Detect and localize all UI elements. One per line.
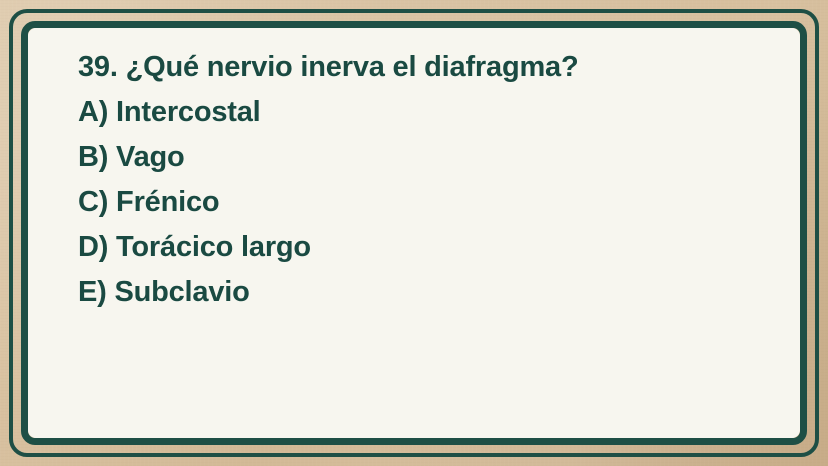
answer-option-a[interactable]: A) Intercostal (78, 90, 770, 135)
quiz-slide: 39. ¿Qué nervio inerva el diafragma? A) … (0, 0, 828, 466)
answer-option-d[interactable]: D) Torácico largo (78, 225, 770, 270)
answer-option-e[interactable]: E) Subclavio (78, 270, 770, 315)
answer-option-c[interactable]: C) Frénico (78, 180, 770, 225)
question-text: 39. ¿Qué nervio inerva el diafragma? (78, 45, 770, 90)
question-content: 39. ¿Qué nervio inerva el diafragma? A) … (78, 45, 770, 315)
question-card: 39. ¿Qué nervio inerva el diafragma? A) … (28, 28, 800, 438)
answer-options-list: A) Intercostal B) Vago C) Frénico D) Tor… (78, 90, 770, 315)
answer-option-b[interactable]: B) Vago (78, 135, 770, 180)
